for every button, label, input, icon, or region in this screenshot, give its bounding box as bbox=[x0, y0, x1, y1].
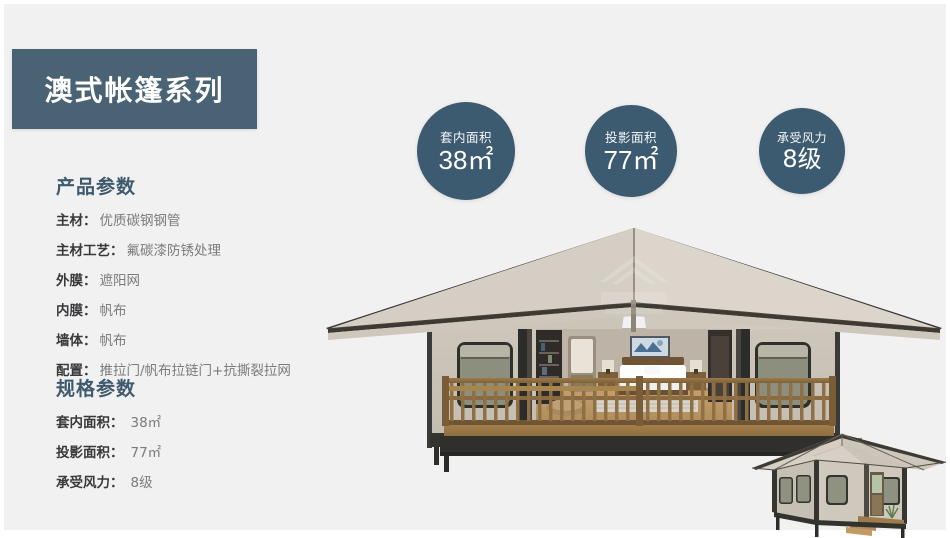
spec-value: 8级 bbox=[131, 471, 153, 491]
spec-row: 主材工艺： 氟碳漆防锈处理 bbox=[56, 239, 291, 259]
page-title: 澳式帐篷系列 bbox=[44, 69, 224, 109]
spec-value: 优质碳钢钢管 bbox=[100, 209, 181, 229]
spec-row: 套内面积： 38㎡ bbox=[56, 411, 161, 431]
spec-label: 承受风力： bbox=[56, 471, 124, 491]
product-parameters-heading: 产品参数 bbox=[56, 172, 291, 199]
stat-circle-projected-area: 投影面积 77㎡ bbox=[585, 105, 677, 197]
spec-value: 遮阳网 bbox=[100, 269, 141, 289]
spec-label: 外膜： bbox=[56, 269, 97, 289]
spec-label: 套内面积： bbox=[56, 411, 124, 431]
stat-value: 77㎡ bbox=[604, 147, 659, 174]
spec-row: 主材： 优质碳钢钢管 bbox=[56, 209, 291, 229]
secondary-tent-illustration bbox=[746, 420, 950, 538]
stat-value: 8级 bbox=[782, 147, 821, 172]
title-banner: 澳式帐篷系列 bbox=[12, 49, 257, 129]
spec-value: 帆布 bbox=[100, 329, 127, 349]
stat-label: 承受风力 bbox=[777, 129, 827, 146]
spec-label: 内膜： bbox=[56, 299, 97, 319]
spec-value: 帆布 bbox=[100, 299, 127, 319]
stat-circle-wind-resistance: 承受风力 8级 bbox=[759, 108, 845, 194]
spec-row: 外膜： 遮阳网 bbox=[56, 269, 291, 289]
stat-value: 38㎡ bbox=[439, 147, 494, 174]
size-parameters-section: 规格参数 套内面积： 38㎡ 投影面积： 77㎡ 承受风力： 8级 bbox=[56, 374, 161, 491]
spec-row: 墙体： 帆布 bbox=[56, 329, 291, 349]
stat-circle-interior-area: 套内面积 38㎡ bbox=[417, 102, 515, 200]
spec-value: 氟碳漆防锈处理 bbox=[127, 239, 222, 259]
slide-canvas: 澳式帐篷系列 产品参数 主材： 优质碳钢钢管 主材工艺： 氟碳漆防锈处理 外膜：… bbox=[0, 0, 950, 534]
tent-roof bbox=[326, 228, 942, 340]
stat-label: 投影面积 bbox=[605, 127, 657, 146]
product-parameters-section: 产品参数 主材： 优质碳钢钢管 主材工艺： 氟碳漆防锈处理 外膜： 遮阳网 内膜… bbox=[56, 172, 291, 379]
spec-value: 77㎡ bbox=[131, 441, 162, 461]
spec-label: 投影面积： bbox=[56, 441, 124, 461]
spec-label: 墙体： bbox=[56, 329, 97, 349]
spec-value: 38㎡ bbox=[131, 411, 162, 431]
stat-label: 套内面积 bbox=[440, 127, 492, 146]
spec-label: 主材工艺： bbox=[56, 239, 124, 259]
spec-label: 主材： bbox=[56, 209, 97, 229]
spec-row: 内膜： 帆布 bbox=[56, 299, 291, 319]
spec-row: 承受风力： 8级 bbox=[56, 471, 161, 491]
size-parameters-heading: 规格参数 bbox=[56, 374, 161, 401]
spec-row: 投影面积： 77㎡ bbox=[56, 441, 161, 461]
